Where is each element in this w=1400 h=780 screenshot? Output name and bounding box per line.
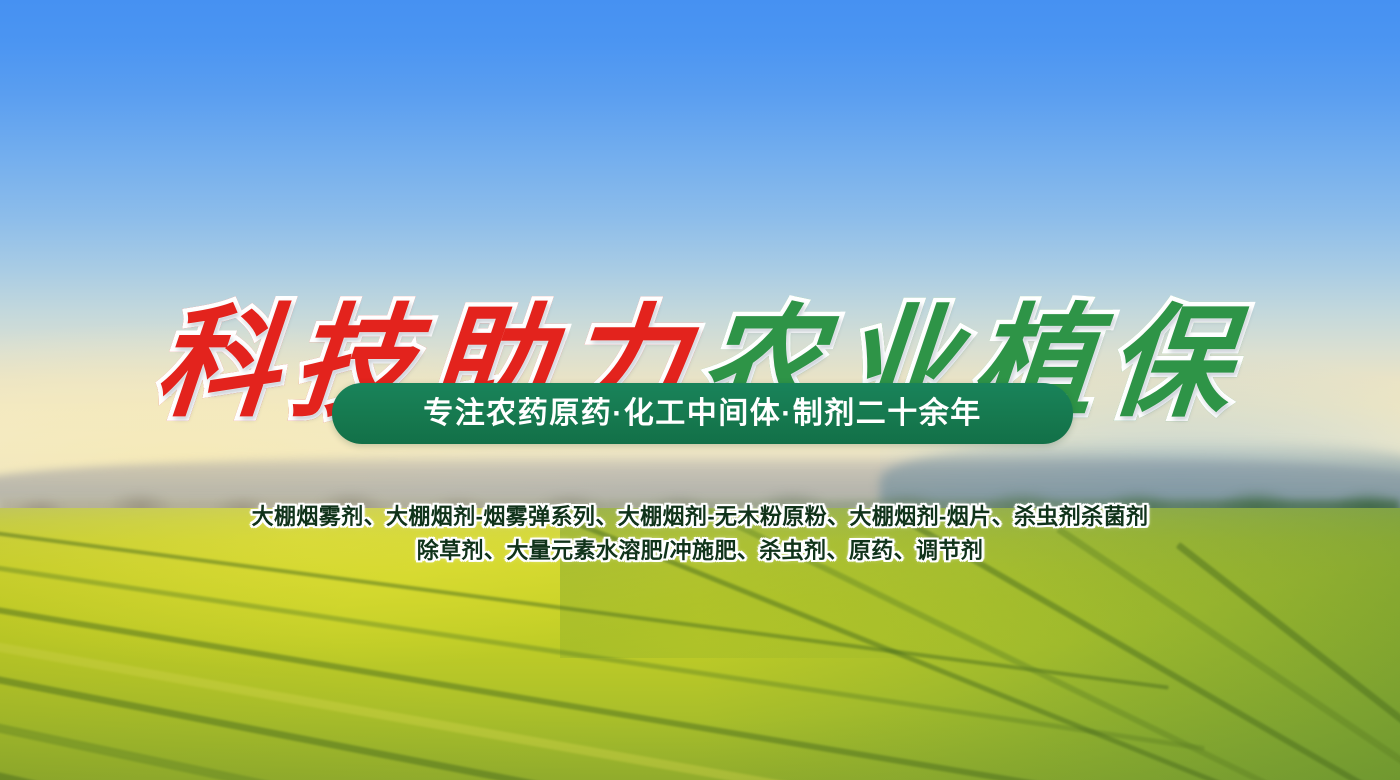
subtitle-text: 专注农药原药·化工中间体·制剂二十余年 [423,399,981,429]
title-char-8: 保 [1102,296,1250,434]
title-char-1: 科 [150,296,298,434]
product-list: 大棚烟雾剂、大棚烟剂-烟雾弹系列、大棚烟剂-无木粉原粉、大棚烟剂-烟片、杀虫剂杀… [0,500,1400,568]
product-line-1: 大棚烟雾剂、大棚烟剂-烟雾弹系列、大棚烟剂-无木粉原粉、大棚烟剂-烟片、杀虫剂杀… [0,500,1400,534]
subtitle-pill: 专注农药原药·化工中间体·制剂二十余年 [332,383,1073,444]
promo-banner: 科技助力农业植保 专注农药原药·化工中间体·制剂二十余年 大棚烟雾剂、大棚烟剂-… [0,0,1400,780]
product-line-2: 除草剂、大量元素水溶肥/冲施肥、杀虫剂、原药、调节剂 [0,534,1400,568]
